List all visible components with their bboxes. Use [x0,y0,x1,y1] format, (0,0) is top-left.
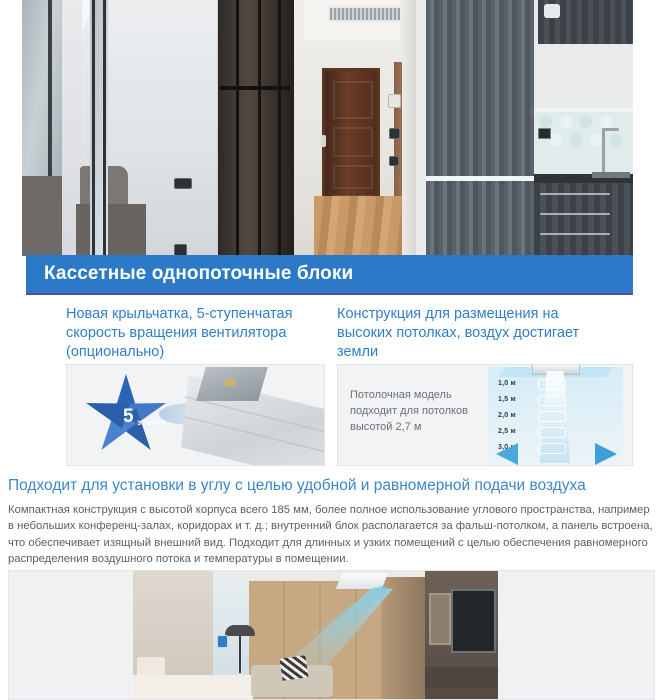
bedroom-airflow-photo [133,571,498,699]
height-label-1: 1,0 м [498,380,516,387]
smoke-detector [544,4,560,18]
room-volume-graphic: 1,0 м 1,5 м 2,0 м 2,5 м 3,0 м [488,367,623,466]
wood-floor [314,196,416,256]
right-wall [402,0,416,256]
airflow-arrow-right-icon [595,443,617,465]
feature-block-impeller: Новая крыльчатка, 5-ступенчатая скорость… [66,305,322,371]
faucet [602,128,605,174]
banner-title: Кассетные однопоточные блоки [44,263,353,285]
impeller-step-word: этапов [137,418,167,427]
kitchen-outlet [538,128,551,139]
tall-cabinet-unit [426,0,534,256]
corridor-socket [389,156,399,166]
height-mark-1 [538,379,566,390]
height-mark-5 [538,443,566,454]
sofa [76,204,146,256]
hero-photo-strip [22,0,633,256]
hallway-interior-photo [22,0,416,256]
airflow-arrow-left-icon [496,443,518,465]
height-mark-3 [538,411,566,422]
wall-art-frame [429,593,451,645]
ceiling-air-vent [328,6,402,22]
corridor-ceiling [304,0,400,40]
bottom-illustration-panel [8,570,655,700]
wall-switch [174,178,192,189]
feature-block-ceiling: Конструкция для размещения на высоких по… [337,305,593,371]
impeller-step-number: 5 [123,407,134,426]
wall-controller [217,635,228,648]
sink [592,172,630,178]
wardrobe [218,0,294,256]
impeller-pinwheel-icon: 5 этапов [83,373,169,459]
fan-impeller-illustration: 5 этапов [66,364,325,466]
sideboard [425,667,498,689]
section-heading: Подходит для установки в углу с целью уд… [8,477,656,495]
cabinet-split-line [426,176,534,181]
unit-knob [225,379,235,386]
sofa-reflection [22,176,62,256]
kitchen-interior-photo [416,0,633,256]
feature-title-ceiling: Конструкция для размещения на высоких по… [337,305,593,362]
corridor [294,0,416,256]
banner-underline [26,293,633,295]
ceiling-height-illustration: Потолочная модель подходит для потолков … [337,364,633,466]
height-label-4: 2,5 м [498,428,516,435]
product-page: Кассетные однопоточные блоки Новая крыль… [0,0,661,700]
corridor-switch [389,128,400,139]
lower-cabinets [534,183,633,256]
bed [133,675,253,699]
ceiling-illustration-caption: Потолочная модель подходит для потолков … [350,387,500,435]
thermostat [388,94,401,108]
wood-column [381,577,425,699]
feature-title-impeller: Новая крыльчатка, 5-ступенчатая скорость… [66,305,322,362]
television [451,589,496,653]
hexagon-backsplash [536,112,633,174]
height-mark-4 [538,427,566,438]
height-label-2: 1,5 м [498,396,516,403]
height-mark-2 [538,395,566,406]
section-body-text: Компактная конструкция с высотой корпуса… [8,502,654,567]
patterned-cushion [280,655,309,680]
floor-lamp [239,633,241,673]
glass-door-frame [90,0,108,256]
height-label-3: 2,0 м [498,412,516,419]
